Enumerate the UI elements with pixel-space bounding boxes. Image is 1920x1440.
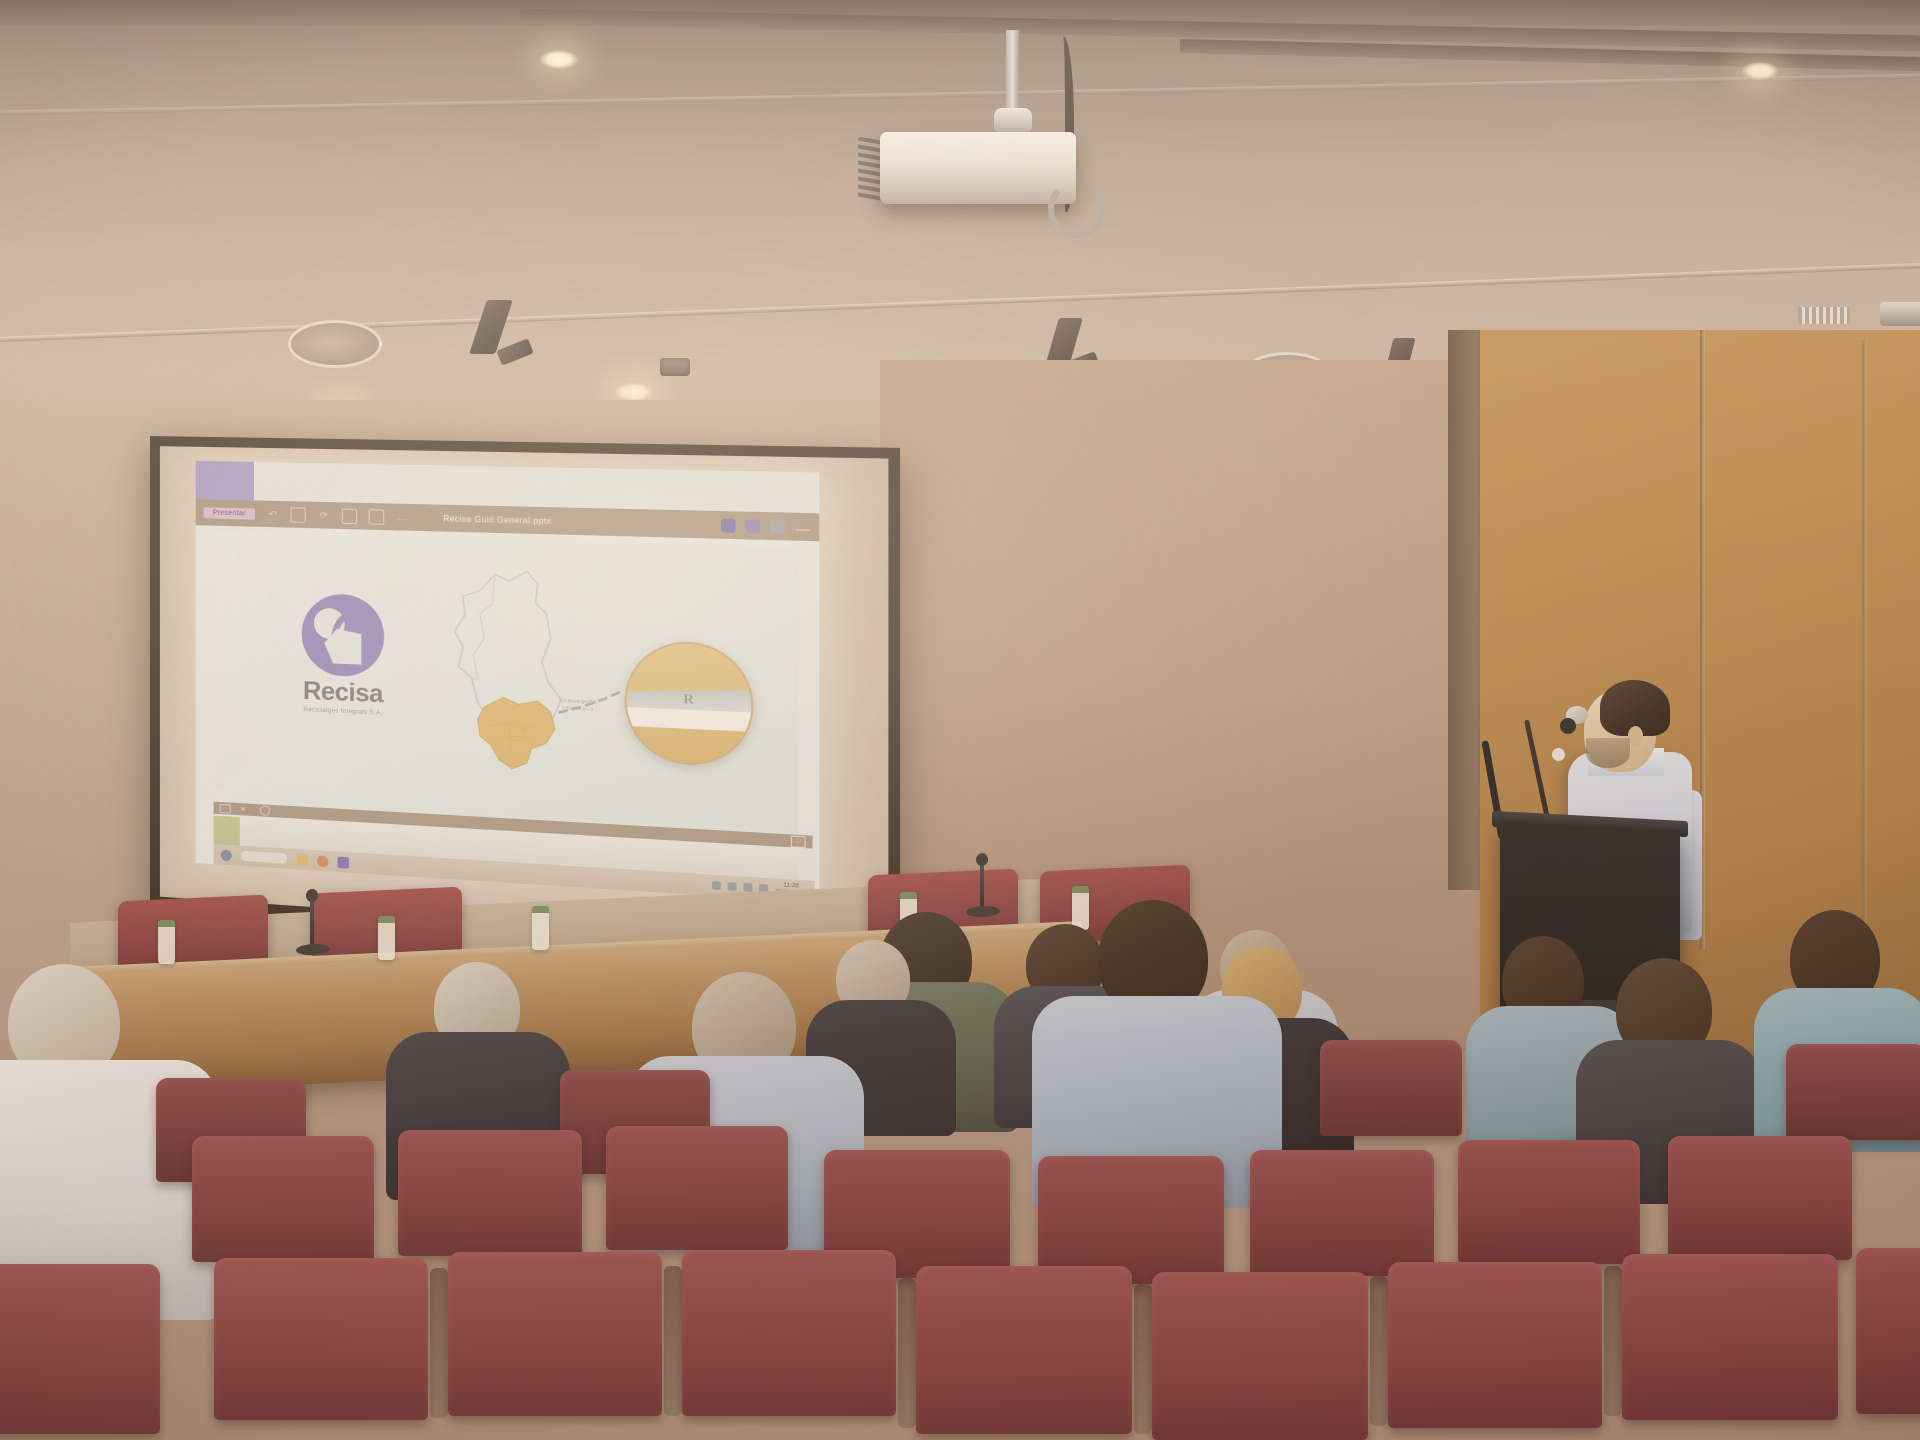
projected-application-window: Presentar ↶ ⟳ … Recisa Guió General.pptx bbox=[196, 461, 820, 903]
water-bottle bbox=[378, 916, 395, 960]
lectern-microphone-cap bbox=[1560, 718, 1576, 734]
presenter-ear bbox=[1628, 726, 1643, 746]
presenter-beard bbox=[1586, 738, 1630, 768]
battery-icon[interactable] bbox=[744, 883, 753, 892]
recisa-logo-hook bbox=[327, 606, 385, 664]
callout-building-wall bbox=[627, 707, 752, 732]
seat-divider bbox=[1370, 1276, 1388, 1426]
callout-monogram: R bbox=[683, 690, 693, 707]
seat bbox=[1668, 1136, 1852, 1260]
seat bbox=[1622, 1254, 1838, 1420]
seat-divider bbox=[430, 1268, 448, 1418]
lectern-microphone-windsock bbox=[1552, 748, 1565, 761]
table-microphone bbox=[980, 862, 984, 908]
search-input[interactable] bbox=[241, 851, 288, 864]
refresh-icon[interactable]: ⟳ bbox=[317, 508, 330, 522]
play-icon[interactable] bbox=[369, 509, 385, 525]
auditorium-photo: Presentar ↶ ⟳ … Recisa Guió General.pptx bbox=[0, 0, 1920, 1440]
projector-mount-pole bbox=[1006, 30, 1019, 118]
app-accent-block bbox=[196, 461, 254, 501]
seat bbox=[1250, 1150, 1434, 1276]
volume-icon[interactable] bbox=[728, 882, 737, 891]
seat bbox=[1856, 1248, 1920, 1414]
projection-screen-surface: Presentar ↶ ⟳ … Recisa Guió General.pptx bbox=[160, 446, 889, 946]
more-options-icon[interactable]: … bbox=[396, 510, 410, 524]
ceiling-vent bbox=[660, 358, 690, 376]
taskbar-app-explorer[interactable] bbox=[297, 854, 308, 866]
table-microphone bbox=[310, 898, 314, 944]
delete-icon[interactable] bbox=[291, 507, 306, 523]
seat bbox=[1152, 1272, 1368, 1440]
map-svg bbox=[448, 550, 653, 820]
projector-grille bbox=[1798, 307, 1850, 324]
taskbar-app-browser[interactable] bbox=[317, 855, 328, 867]
projector-bracket bbox=[1048, 180, 1106, 238]
undo-icon[interactable]: ↶ bbox=[266, 507, 279, 521]
minimize-icon[interactable] bbox=[795, 529, 810, 532]
ceiling-downlight bbox=[1742, 62, 1778, 80]
catalonia-map: COMARQUES CENTRALS bbox=[448, 550, 653, 820]
ceiling-projector bbox=[880, 132, 1076, 204]
map-region-label-line1: COMARQUES bbox=[559, 698, 597, 705]
present-icon[interactable] bbox=[746, 519, 761, 533]
recisa-logo: Recisa Reciclatges Integrals S.A. bbox=[266, 592, 421, 719]
projection-screen-frame: Presentar ↶ ⟳ … Recisa Guió General.pptx bbox=[150, 436, 900, 958]
water-bottle bbox=[532, 906, 549, 950]
present-button[interactable]: Presentar bbox=[204, 507, 255, 519]
recisa-logo-mark bbox=[302, 593, 385, 678]
map-internal-border bbox=[471, 574, 494, 681]
desktop-accent-block bbox=[214, 816, 240, 846]
seat bbox=[1320, 1040, 1462, 1136]
taskbar-clock-time: 11:28 bbox=[783, 882, 798, 889]
seat-divider bbox=[898, 1278, 916, 1428]
ceiling-downlight bbox=[540, 50, 578, 69]
wifi-icon[interactable] bbox=[712, 881, 721, 890]
seat bbox=[0, 1264, 160, 1434]
seat bbox=[1038, 1156, 1224, 1284]
projector-lens bbox=[1880, 302, 1920, 326]
share-icon[interactable] bbox=[770, 519, 785, 533]
favorite-icon[interactable]: ♥ bbox=[241, 806, 250, 814]
seat bbox=[448, 1252, 662, 1416]
ceiling-downlight-ring bbox=[288, 320, 382, 368]
notes-icon[interactable] bbox=[220, 803, 231, 813]
seat bbox=[192, 1136, 374, 1262]
slide-canvas: Recisa Reciclatges Integrals S.A. bbox=[214, 532, 799, 835]
seat bbox=[214, 1258, 428, 1420]
water-bottle bbox=[1072, 886, 1089, 930]
seat bbox=[1786, 1044, 1920, 1140]
taskbar-app-powerpoint[interactable] bbox=[338, 856, 349, 868]
map-highlighted-region bbox=[478, 696, 555, 770]
recisa-logo-wordmark: Recisa bbox=[266, 677, 421, 709]
edit-icon[interactable] bbox=[721, 518, 736, 532]
seat-divider bbox=[1134, 1284, 1152, 1434]
seat bbox=[1388, 1262, 1602, 1428]
seat bbox=[398, 1130, 582, 1256]
map-region-label: COMARQUES CENTRALS bbox=[559, 698, 597, 714]
image-icon[interactable] bbox=[342, 508, 357, 524]
wall-panel-joint bbox=[1862, 340, 1867, 940]
projector-mount-joint bbox=[994, 108, 1032, 134]
water-bottle bbox=[158, 920, 175, 964]
seat bbox=[682, 1250, 896, 1416]
ceiling-downlight bbox=[614, 382, 654, 402]
seat-divider bbox=[664, 1266, 682, 1416]
fullscreen-icon[interactable]: □ bbox=[791, 835, 806, 848]
toolbar-right-group bbox=[721, 518, 810, 534]
windows-start-icon[interactable] bbox=[221, 849, 232, 861]
document-title: Recisa Guió General.pptx bbox=[443, 513, 551, 525]
seat-divider bbox=[1604, 1266, 1622, 1416]
seat bbox=[1458, 1140, 1640, 1264]
seat bbox=[916, 1266, 1132, 1434]
seat bbox=[606, 1126, 788, 1250]
map-region-label-line2: CENTRALS bbox=[562, 705, 594, 712]
info-icon[interactable] bbox=[260, 805, 270, 816]
